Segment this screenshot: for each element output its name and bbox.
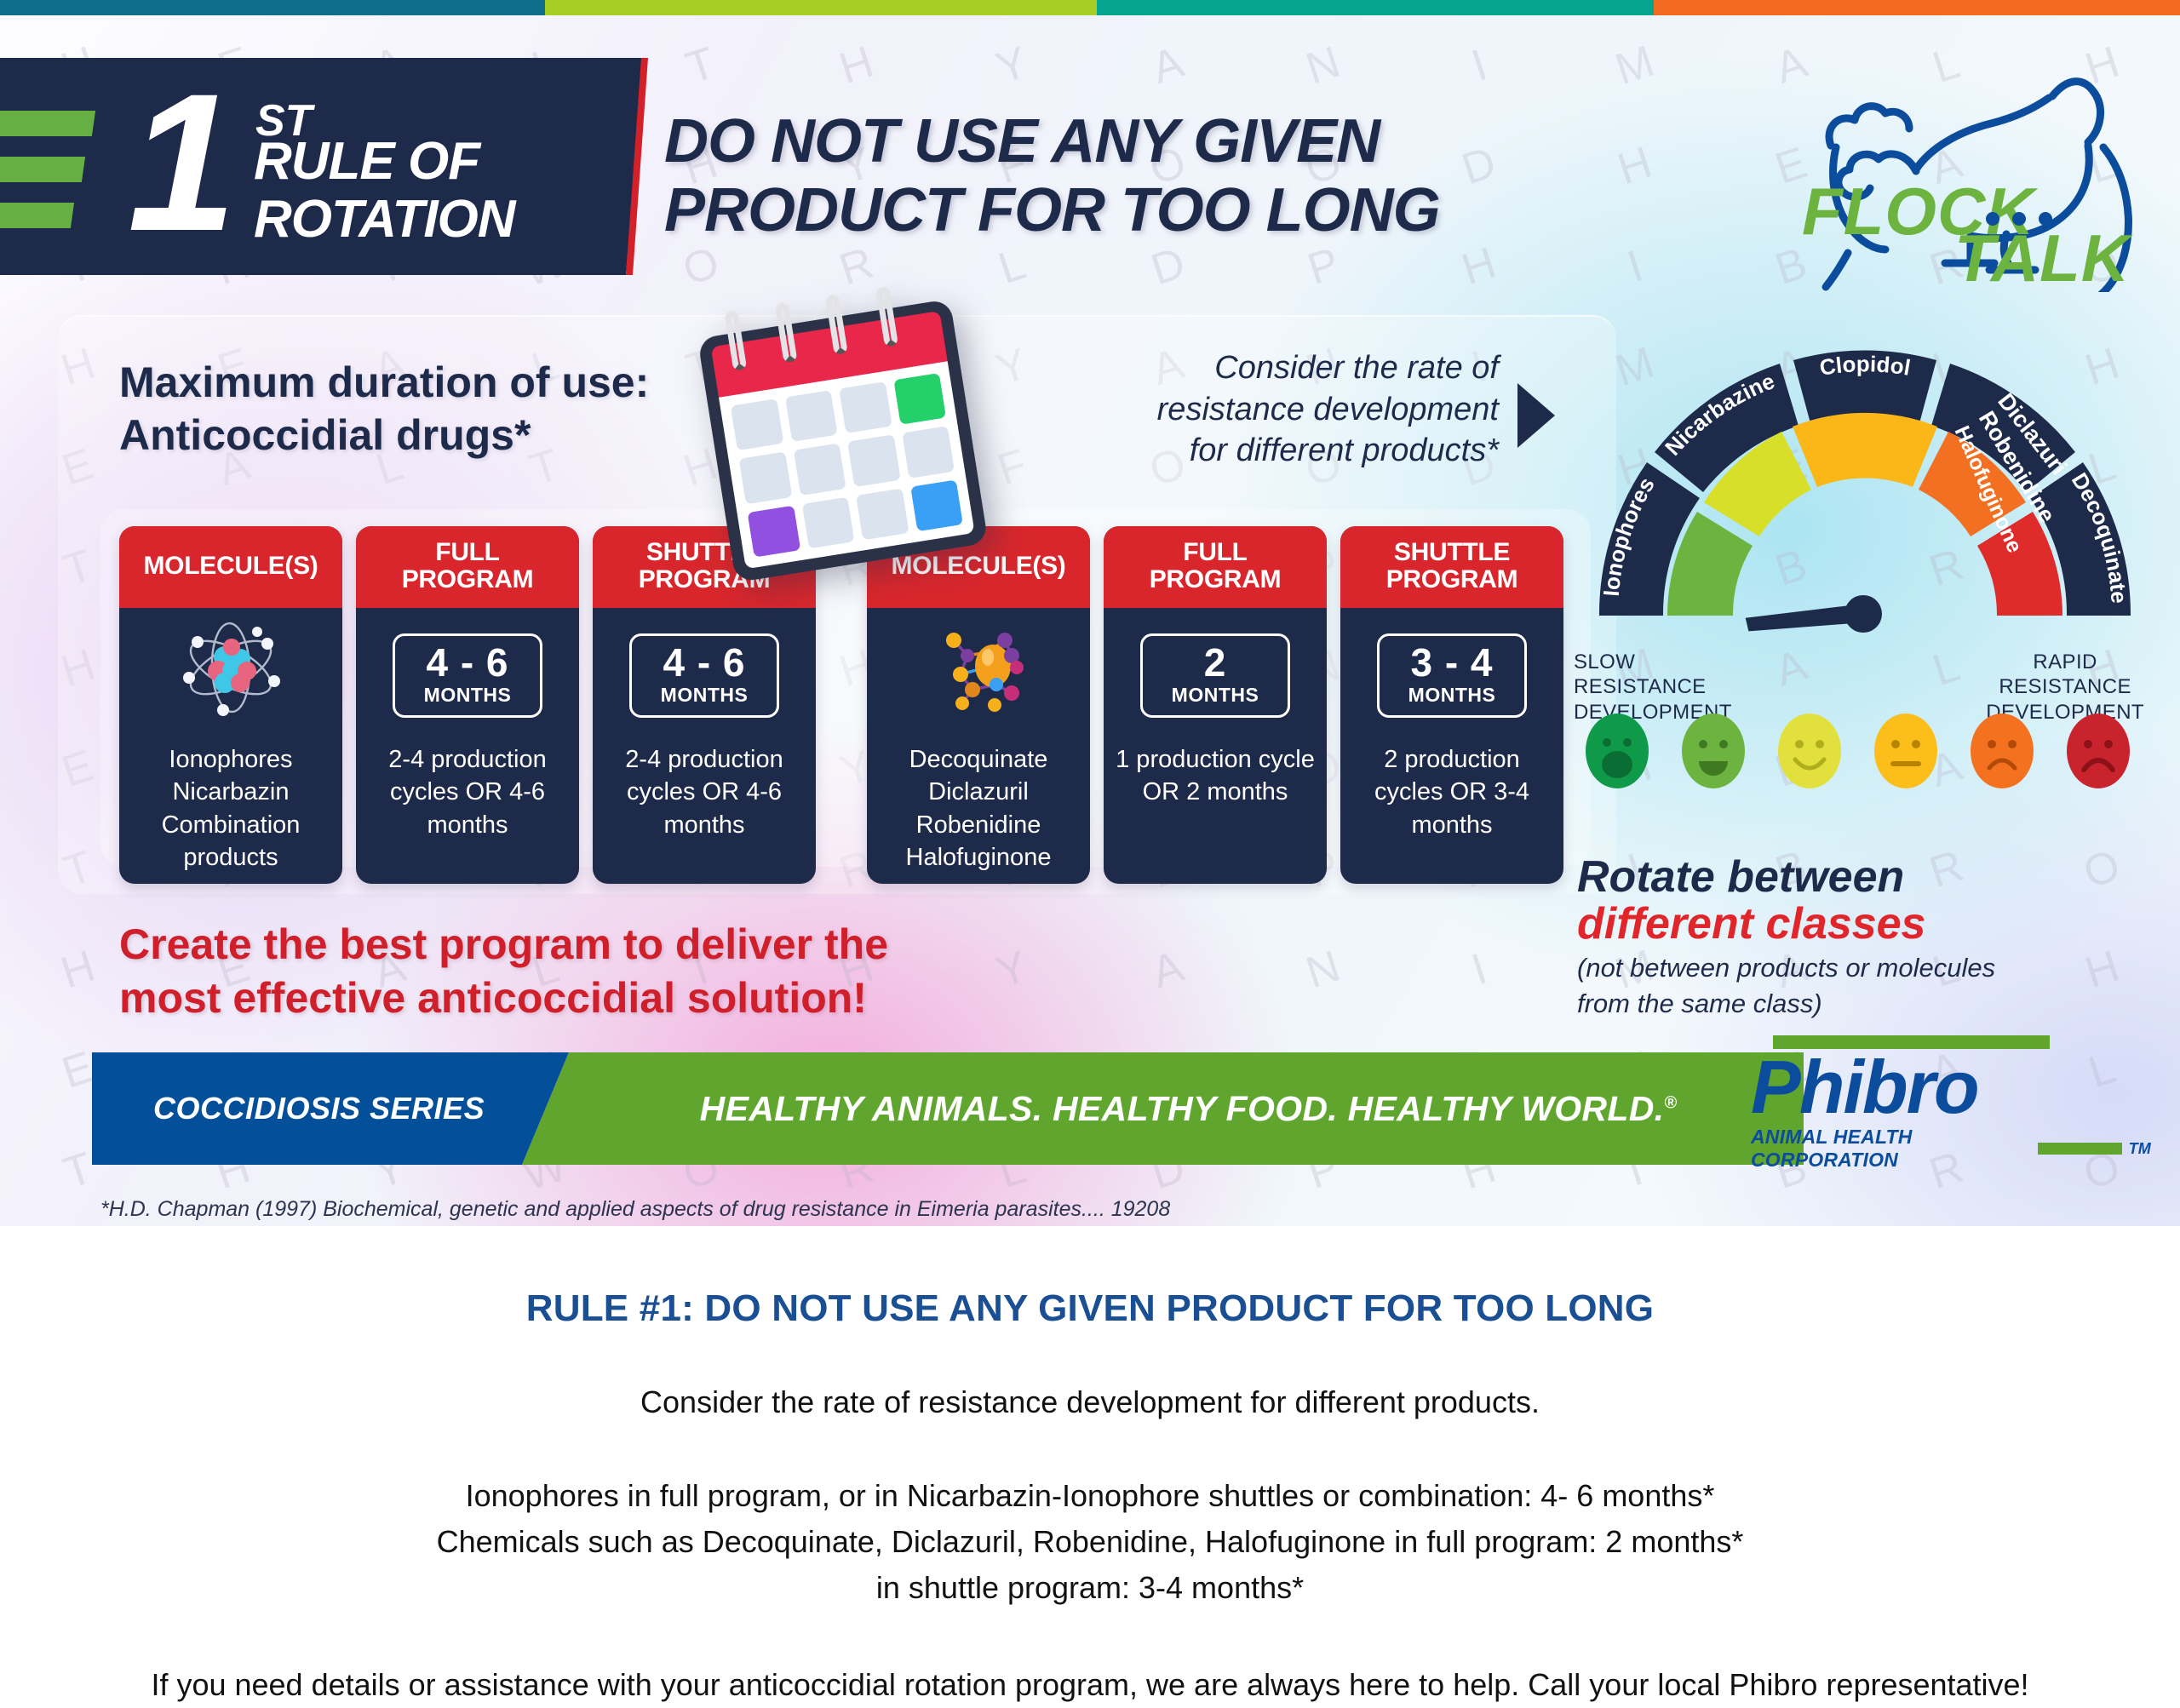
slow-line2: RESISTANCE	[1574, 674, 1732, 699]
bottom-p2-line1: Ionophores in full program, or in Nicarb…	[0, 1473, 2180, 1519]
rapid-line1: RAPID	[1986, 650, 2144, 674]
bottom-paragraph-2: Ionophores in full program, or in Nicarb…	[0, 1473, 2180, 1611]
duration-badge: 2 MONTHS	[1140, 633, 1291, 718]
bottom-paragraph-3: If you need details or assistance with y…	[0, 1662, 2180, 1708]
face-neutral-icon	[1873, 712, 1939, 790]
card-header-line1: SHUTTLE	[1394, 538, 1510, 566]
card-header: MOLECULE(S)	[119, 526, 342, 608]
brand-sub-text: ANIMAL HEALTH CORPORATION	[1751, 1126, 2031, 1172]
card-body: 2-4 production cycles OR 4-6 months	[356, 743, 579, 841]
molecule-name: Decoquinate	[906, 743, 1052, 776]
card-molecules-1[interactable]: MOLECULE(S)	[119, 526, 342, 884]
face-very-happy-icon	[1584, 712, 1650, 790]
gauge-needle	[1746, 595, 1882, 635]
tagline-main: HEALTHY ANIMALS. HEALTHY FOOD. HEALTHY W…	[674, 1089, 1665, 1128]
series-label: COCCIDIOSIS SERIES	[92, 1052, 569, 1165]
logo-talk-text: TALK	[1954, 220, 2130, 297]
duration-badge: 3 - 4 MONTHS	[1377, 633, 1528, 718]
card-header-line1: FULL	[435, 538, 499, 566]
rotate-line1: Rotate between	[1577, 854, 2088, 901]
card-full-program-1[interactable]: FULL PROGRAM 4 - 6 MONTHS 2-4 production…	[356, 526, 579, 884]
rule-label-line1: RULE OF	[254, 136, 479, 188]
face-very-sad-icon	[2065, 712, 2131, 790]
bottom-p2-line2: Chemicals such as Decoquinate, Diclazuri…	[0, 1519, 2180, 1565]
brand-name: Phibro	[1751, 1051, 2151, 1124]
consider-line3: for different products*	[1150, 430, 1499, 472]
max-duration-line2: Anticoccidial drugs*	[119, 409, 649, 461]
bottom-heading: RULE #1: DO NOT USE ANY GIVEN PRODUCT FO…	[0, 1287, 2180, 1330]
bottom-paragraph-1: Consider the rate of resistance developm…	[0, 1384, 2180, 1420]
page-title-line1: DO NOT USE ANY GIVEN	[664, 107, 1440, 176]
page-title-line2: PRODUCT FOR TOO LONG	[664, 176, 1440, 245]
molecule-name: Nicarbazin	[162, 776, 301, 808]
rotate-line2: different classes	[1577, 901, 2088, 948]
duration-value: 2	[1172, 643, 1259, 682]
create-best-program-callout: Create the best program to deliver the m…	[119, 918, 888, 1025]
card-header: SHUTTLE PROGRAM	[1340, 526, 1563, 608]
molecule-name: Combination	[162, 809, 301, 841]
top-bar-lime	[545, 0, 1097, 15]
arrow-right-icon	[1517, 383, 1555, 448]
card-header-line2: PROGRAM	[402, 565, 534, 593]
slow-line1: SLOW	[1574, 650, 1732, 674]
card-body: Decoquinate Diclazuril Robenidine Halofu…	[896, 743, 1062, 874]
card-body: Ionophores Nicarbazin Combination produc…	[152, 743, 311, 874]
consider-line2: resistance development	[1150, 389, 1499, 431]
molecule-name: Diclazuril	[906, 776, 1052, 808]
card-molecules-2[interactable]: MOLECULE(S)	[867, 526, 1090, 884]
max-duration-line1: Maximum duration of use:	[119, 356, 649, 409]
citation: *H.D. Chapman (1997) Biochemical, geneti…	[100, 1197, 1170, 1222]
page-title: DO NOT USE ANY GIVEN PRODUCT FOR TOO LON…	[664, 107, 1440, 244]
duration-value: 4 - 6	[424, 643, 512, 682]
phibro-logo: Phibro ANIMAL HEALTH CORPORATION TM	[1751, 1035, 2151, 1172]
consider-line1: Consider the rate of	[1150, 347, 1499, 389]
duration-unit: MONTHS	[661, 684, 749, 707]
card-group-chemicals: MOLECULE(S)	[867, 526, 1563, 884]
card-body: 1 production cycle OR 2 months	[1104, 743, 1327, 809]
tagline-text: HEALTHY ANIMALS. HEALTHY FOOD. HEALTHY W…	[649, 1089, 1678, 1129]
rule-number: 1	[128, 65, 232, 261]
logo-bar-bottom	[2038, 1143, 2121, 1155]
card-header-line2: PROGRAM	[1150, 565, 1282, 593]
duration-value: 4 - 6	[661, 643, 749, 682]
card-header-line2: PROGRAM	[1386, 565, 1518, 593]
duration-badge: 4 - 6 MONTHS	[629, 633, 780, 718]
brand-subtitle: ANIMAL HEALTH CORPORATION TM	[1751, 1126, 2151, 1172]
infographic-poster: HEALTHYANIMALHEALTHYFOODHEALTHYWORLDPHIB…	[0, 15, 2180, 1241]
mood-scale-icons	[1584, 712, 2131, 790]
card-group-ionophores: MOLECULE(S)	[119, 526, 816, 884]
molecule-icon	[923, 618, 1034, 726]
brand-tm: TM	[2129, 1140, 2151, 1158]
max-duration-heading: Maximum duration of use: Anticoccidial d…	[119, 356, 649, 461]
tagline-reg-mark: ®	[1664, 1093, 1677, 1112]
card-header-line1: FULL	[1183, 538, 1247, 566]
face-happy-icon	[1680, 712, 1747, 790]
rotate-classes-note: Rotate between different classes (not be…	[1577, 854, 2088, 1020]
rotate-line3a: (not between products or molecules	[1577, 952, 2088, 983]
create-line1: Create the best program to deliver the	[119, 918, 888, 971]
card-shuttle-program-2[interactable]: SHUTTLE PROGRAM 3 - 4 MONTHS 2 productio…	[1340, 526, 1563, 884]
top-bar-teal-blue	[0, 0, 545, 15]
molecule-name: products	[162, 841, 301, 874]
face-smile-icon	[1776, 712, 1843, 790]
calendar-icon	[694, 276, 997, 587]
bottom-p2-line3: in shuttle program: 3-4 months*	[0, 1565, 2180, 1611]
top-bar-orange	[1654, 0, 2180, 15]
rapid-line2: RESISTANCE	[1986, 674, 2144, 699]
create-line2: most effective anticoccidial solution!	[119, 971, 888, 1025]
top-bar-teal	[1097, 0, 1654, 15]
tagline-banner: HEALTHY ANIMALS. HEALTHY FOOD. HEALTHY W…	[522, 1052, 1804, 1165]
molecule-name: Robenidine	[906, 809, 1052, 841]
badge-stripes-icon	[0, 111, 94, 249]
molecule-name: Halofuginone	[906, 841, 1052, 874]
duration-badge: 4 - 6 MONTHS	[393, 633, 543, 718]
top-color-bars	[0, 0, 2180, 15]
rotate-line3b: from the same class)	[1577, 988, 2088, 1019]
card-body: 2 production cycles OR 3-4 months	[1340, 743, 1563, 841]
duration-value: 3 - 4	[1408, 643, 1496, 682]
duration-unit: MONTHS	[1408, 684, 1496, 707]
footer-banner: COCCIDIOSIS SERIES HEALTHY ANIMALS. HEAL…	[92, 1052, 1804, 1165]
atom-icon	[175, 618, 286, 726]
gauge-label-clopidol: Clopidol	[1818, 351, 1913, 381]
bottom-copy-section: RULE #1: DO NOT USE ANY GIVEN PRODUCT FO…	[0, 1226, 2180, 1703]
card-header: FULL PROGRAM	[1104, 526, 1327, 608]
duration-unit: MONTHS	[1172, 684, 1259, 707]
flock-talk-logo: FLOCK TALK	[1797, 45, 2154, 292]
consider-note: Consider the rate of resistance developm…	[1150, 347, 1499, 472]
duration-unit: MONTHS	[424, 684, 512, 707]
card-full-program-2[interactable]: FULL PROGRAM 2 MONTHS 1 production cycle…	[1104, 526, 1327, 884]
face-sad-icon	[1969, 712, 2035, 790]
card-header: FULL PROGRAM	[356, 526, 579, 608]
resistance-gauge-chart: Ionophores Nicarbazine Clopidol Decoquin…	[1567, 335, 2163, 701]
rule-number-badge: 1 ST RULE OF ROTATION	[0, 58, 643, 275]
series-text: COCCIDIOSIS SERIES	[153, 1091, 485, 1126]
card-body: 2-4 production cycles OR 4-6 months	[593, 743, 816, 841]
rule-label-line2: ROTATION	[254, 194, 515, 246]
card-shuttle-program-1[interactable]: SHUTTLE PROGRAM 4 - 6 MONTHS 2-4 product…	[593, 526, 816, 884]
molecule-name: Ionophores	[162, 743, 301, 776]
